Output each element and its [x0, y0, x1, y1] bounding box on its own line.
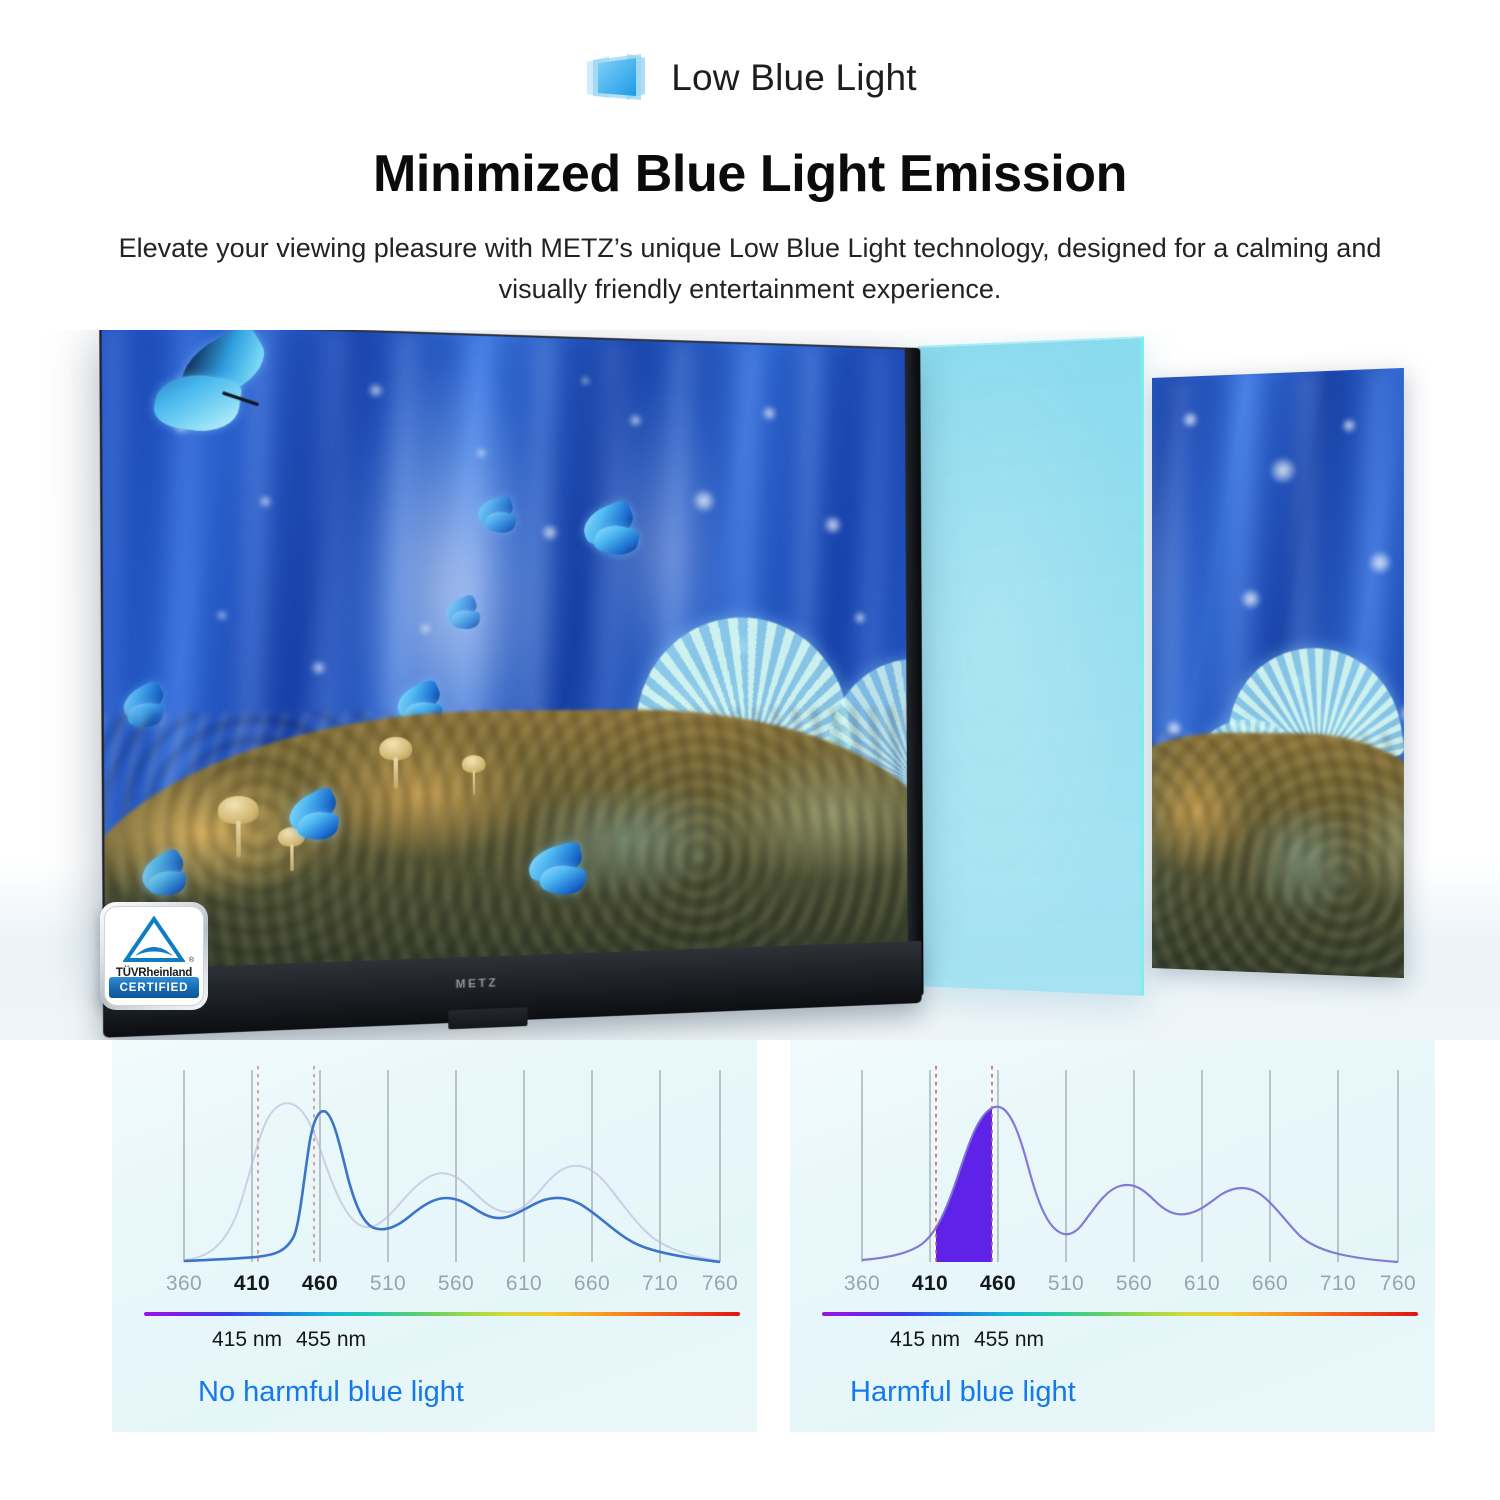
visible-spectrum-bar-left	[144, 1312, 740, 1316]
tick-410: 410	[234, 1272, 270, 1296]
tick-510: 510	[370, 1272, 406, 1296]
rear-image-panel	[1152, 368, 1404, 978]
tick-660: 660	[1252, 1272, 1288, 1296]
tuv-certified-label: CERTIFIED	[109, 977, 199, 998]
hero-visual: METZ	[0, 330, 1500, 1040]
tick-410: 410	[912, 1272, 948, 1296]
x-axis-labels-left: 360 410 460 510 560 610 660 710 760	[164, 1272, 729, 1306]
chart-harmful-blue-light: 360 410 460 510 560 610 660 710 760 415 …	[790, 1040, 1435, 1432]
tick-460: 460	[302, 1272, 338, 1296]
low-blue-light-page: Low Blue Light Minimized Blue Light Emis…	[0, 0, 1500, 1500]
marker-labels-left: 415 nm 455 nm	[164, 1328, 729, 1362]
tick-610: 610	[1184, 1272, 1220, 1296]
marker-labels-right: 415 nm 455 nm	[842, 1328, 1407, 1362]
butterfly-decoration	[1152, 555, 1168, 614]
marker-415nm: 415 nm	[890, 1328, 960, 1352]
tick-610: 610	[506, 1272, 542, 1296]
tuv-rheinland-certified-badge: ® TÜVRheinland CERTIFIED	[100, 902, 208, 1010]
tick-760: 760	[702, 1272, 738, 1296]
tick-360: 360	[166, 1272, 202, 1296]
tick-360: 360	[844, 1272, 880, 1296]
tick-710: 710	[642, 1272, 678, 1296]
marker-455nm: 455 nm	[296, 1328, 366, 1352]
feature-badge-label: Low Blue Light	[671, 57, 917, 99]
tv-screen	[99, 330, 915, 974]
marker-455nm: 455 nm	[974, 1328, 1044, 1352]
page-title: Minimized Blue Light Emission	[0, 144, 1500, 204]
tick-510: 510	[1048, 1272, 1084, 1296]
page-subtitle: Elevate your viewing pleasure with METZ’…	[100, 228, 1400, 310]
marker-415nm: 415 nm	[212, 1328, 282, 1352]
tick-660: 660	[574, 1272, 610, 1296]
tuv-triangle-icon	[123, 916, 185, 967]
tick-710: 710	[1320, 1272, 1356, 1296]
layered-screen-icon	[583, 50, 649, 106]
tick-460: 460	[980, 1272, 1016, 1296]
x-axis-labels-right: 360 410 460 510 560 610 660 710 760	[842, 1272, 1407, 1306]
tick-560: 560	[1116, 1272, 1152, 1296]
low-blue-light-filter-panel	[918, 336, 1144, 996]
tick-560: 560	[438, 1272, 474, 1296]
spectrum-charts: 360 410 460 510 560 610 660 710 760 415 …	[0, 1040, 1500, 1440]
butterfly-decoration	[154, 338, 302, 445]
plot-area-right	[842, 1066, 1407, 1266]
tv-side-edge	[905, 348, 924, 997]
chart-no-harmful-blue-light: 360 410 460 510 560 610 660 710 760 415 …	[112, 1040, 757, 1432]
chart-caption-right: Harmful blue light	[850, 1376, 1076, 1409]
chart-caption-left: No harmful blue light	[198, 1376, 464, 1409]
plot-area-left	[164, 1066, 729, 1266]
feature-badge-row: Low Blue Light	[0, 50, 1500, 106]
tv-stand-foot	[448, 1007, 527, 1029]
metz-television: METZ	[99, 330, 921, 1040]
tick-760: 760	[1380, 1272, 1416, 1296]
visible-spectrum-bar-right	[822, 1312, 1418, 1316]
tv-brand-logo: METZ	[456, 977, 499, 991]
registered-mark: ®	[189, 957, 194, 964]
